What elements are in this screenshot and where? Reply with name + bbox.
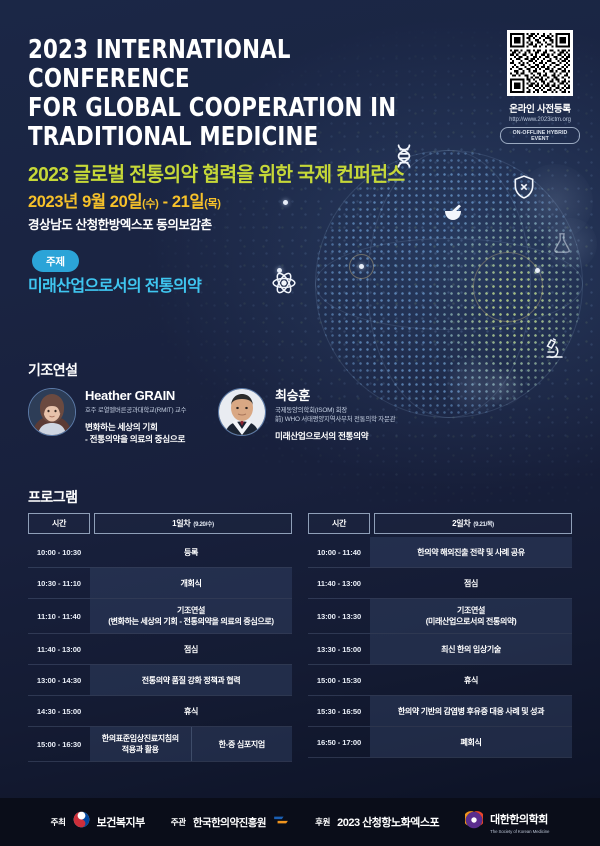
footer-group-host: 주최 보건복지부: [51, 811, 145, 833]
taegeuk-icon: [73, 811, 90, 833]
row-time: 15:30 - 16:50: [308, 696, 370, 726]
table-row: 13:00 - 14:30전통의약 품질 강화 정책과 협력: [28, 665, 292, 696]
keynote-heading: 기조연설: [28, 360, 78, 380]
footer-society-text: 대한한의학회 The Society of Korean Medicine: [490, 810, 549, 834]
speaker-1-name: Heather GRAIN: [85, 388, 186, 403]
program-table-day1: 시간 1일차 (9.20/수) 10:00 - 10:30등록10:30 - 1…: [28, 513, 292, 762]
table-row: 11:40 - 13:00점심: [308, 568, 572, 599]
date-weekday-2: (목): [204, 198, 220, 210]
row-session: 한의약 해외진출 전략 및 사례 공유: [370, 537, 572, 567]
hybrid-event-badge: ON-OFFLINE HYBRID EVENT: [500, 127, 580, 144]
footer-org-sponsor: 2023 산청항노화엑스포: [337, 814, 439, 830]
globe-meridian: [367, 150, 531, 418]
row-session: 점심: [90, 634, 292, 664]
row-time: 13:00 - 14:30: [28, 665, 90, 695]
date-end: 21일: [172, 193, 204, 211]
row-time: 15:00 - 16:30: [28, 727, 90, 761]
date-start: 2023년 9월 20일: [28, 193, 142, 211]
row-session-text: 최신 한의 임상기술: [441, 644, 501, 655]
bokeh-circle: [517, 164, 593, 240]
row-session: 최신 한의 임상기술: [370, 634, 572, 664]
bokeh-circle: [485, 368, 523, 406]
program-table-day2: 시간 2일차 (9.21/목) 10:00 - 11:40한의약 해외진출 전략…: [308, 513, 572, 762]
footer-group-organizer: 주관 한국한의약진흥원: [171, 813, 289, 831]
row-time: 14:30 - 15:00: [28, 696, 90, 726]
row-session-text: 점심: [464, 578, 478, 589]
keynote-speaker-2: 최승훈 국제동양의학회(ISOM) 회장 前) WHO 서태평양지역사무처 전통…: [218, 388, 448, 442]
row-session-text: 개회식: [180, 578, 201, 589]
network-node: [535, 268, 540, 273]
row-time: 13:00 - 13:30: [308, 599, 370, 633]
speaker-2-affiliation-line-1: 국제동양의학회(ISOM) 회장: [275, 406, 395, 415]
column-header-day: 2일차 (9.21/목): [374, 513, 572, 534]
footer-group-society: 대한한의학회 The Society of Korean Medicine: [465, 810, 549, 834]
column-header-day: 1일차 (9.20/수): [94, 513, 292, 534]
row-session-part: 한-중 심포지엄: [191, 727, 293, 761]
globe-outline: [315, 150, 583, 418]
row-time: 11:10 - 11:40: [28, 599, 90, 633]
row-session-text: 한의약 기반의 감염병 후유증 대응 사례 및 성과: [398, 706, 544, 717]
program-heading: 프로그램: [28, 487, 78, 507]
table-row: 10:30 - 11:10개회식: [28, 568, 292, 599]
network-node: [277, 268, 282, 273]
row-session-text: 휴식: [184, 706, 198, 717]
table-row: 10:00 - 10:30등록: [28, 537, 292, 568]
title-block: 2023 INTERNATIONAL CONFERENCE FOR GLOBAL…: [28, 36, 458, 187]
table-header-row: 시간 1일차 (9.20/수): [28, 513, 292, 534]
title-korean: 2023 글로벌 전통의약 협력을 위한 국제 컨퍼런스: [28, 158, 441, 187]
microscope-icon: [541, 336, 565, 365]
globe-parallel: [315, 238, 583, 330]
footer-org-society-sub: The Society of Korean Medicine: [490, 829, 549, 834]
capsule-icon: [511, 174, 537, 205]
row-time: 10:00 - 11:40: [308, 537, 370, 567]
speaker-1-talk: 변화하는 세상의 기회 - 전통의약을 의료의 중심으로: [85, 421, 186, 445]
title-line-3: TRADITIONAL MEDICINE: [28, 123, 428, 152]
table-row: 14:30 - 15:00휴식: [28, 696, 292, 727]
row-session: 기조연설(변화하는 세상의 기회 - 전통의약을 의료의 중심으로): [90, 599, 292, 633]
row-session: 기조연설(미래산업으로서의 전통의약): [370, 599, 572, 633]
table-row: 11:40 - 13:00점심: [28, 634, 292, 665]
row-session: 휴식: [90, 696, 292, 726]
footer-role-host: 주최: [51, 816, 66, 828]
row-session: 등록: [90, 537, 292, 567]
speaker-2-name: 최승훈: [275, 388, 395, 403]
network-node: [283, 200, 288, 205]
row-time: 10:00 - 10:30: [28, 537, 90, 567]
node-ring: [349, 254, 374, 279]
footer-org-host: 보건복지부: [97, 814, 145, 830]
flask-icon: [551, 232, 573, 259]
network-node: [359, 264, 364, 269]
event-venue: 경상남도 산청한방엑스포 동의보감촌: [28, 214, 212, 233]
bokeh-circle: [447, 356, 505, 414]
row-session: 점심: [370, 568, 572, 598]
date-weekday-1: (수): [142, 198, 158, 210]
column-header-time: 시간: [308, 513, 370, 534]
speaker-2-talk: 미래산업으로서의 전통의약: [275, 430, 395, 442]
globe-dots-blue: [315, 150, 583, 418]
table-row: 10:00 - 11:40한의약 해외진출 전략 및 사례 공유: [308, 537, 572, 568]
column-header-time: 시간: [28, 513, 90, 534]
row-session-text: 전통의약 품질 강화 정책과 협력: [142, 675, 241, 686]
footer-role-sponsor: 후원: [315, 816, 330, 828]
skom-icon: [465, 811, 483, 834]
table-row: 15:00 - 15:30휴식: [308, 665, 572, 696]
row-time: 10:30 - 11:10: [28, 568, 90, 598]
globe-dots-green: [315, 150, 583, 418]
speaker-2-affiliation-line-2: 前) WHO 서태평양지역사무처 전통의학 자문관: [275, 415, 395, 424]
row-session-text: 점심: [184, 644, 198, 655]
footer-sponsors: 주최 보건복지부 주관 한국한의약진흥원 후원 2023: [0, 798, 600, 846]
event-date: 2023년 9월 20일(수) - 21일(목): [28, 188, 220, 212]
row-time: 13:30 - 15:00: [308, 634, 370, 664]
atom-icon: [271, 270, 297, 301]
day-date: (9.21/목): [473, 519, 493, 528]
speaker-1-avatar: [28, 388, 76, 436]
row-session-text: 한의약 해외진출 전략 및 사례 공유: [417, 547, 525, 558]
row-session-text: 등록: [184, 547, 198, 558]
table-row: 15:00 - 16:30한의표준임상진료지침의적용과 활용한-중 심포지엄: [28, 727, 292, 762]
row-session: 폐회식: [370, 727, 572, 757]
qr-code-image[interactable]: [507, 30, 573, 96]
row-session-part: 한의표준임상진료지침의적용과 활용: [90, 727, 191, 761]
table-row: 15:30 - 16:50한의약 기반의 감염병 후유증 대응 사례 및 성과: [308, 696, 572, 727]
conference-poster: 2023 INTERNATIONAL CONFERENCE FOR GLOBAL…: [0, 0, 600, 846]
footer-org-organizer: 한국한의약진흥원: [193, 815, 266, 830]
speaker-1-affiliation: 호주 로열멜버른공과대학교(RMIT) 교수: [85, 406, 186, 415]
row-session: 전통의약 품질 강화 정책과 협력: [90, 665, 292, 695]
table-row: 13:30 - 15:00최신 한의 임상기술: [308, 634, 572, 665]
row-session: 한의표준임상진료지침의적용과 활용한-중 심포지엄: [90, 727, 292, 761]
day-date: (9.20/수): [193, 519, 213, 528]
row-session-text: 기조연설(변화하는 세상의 기회 - 전통의약을 의료의 중심으로): [108, 605, 273, 627]
topic-badge: 주제: [32, 250, 79, 272]
row-session: 개회식: [90, 568, 292, 598]
nikom-icon: [273, 813, 289, 831]
title-line-1: 2023 INTERNATIONAL CONFERENCE: [28, 36, 428, 94]
qr-registration-block[interactable]: 온라인 사전등록 http://www.2023ictm.org ON-OFFL…: [500, 30, 580, 145]
day-label: 1일차: [172, 518, 190, 529]
row-session-text: 휴식: [464, 675, 478, 686]
speaker-1-talk-line-1: 변화하는 세상의 기회: [85, 421, 186, 433]
program-tables: 시간 1일차 (9.20/수) 10:00 - 10:30등록10:30 - 1…: [28, 513, 572, 762]
date-separator: -: [158, 193, 171, 211]
speaker-2-avatar: [218, 388, 266, 436]
day-label: 2일차: [452, 518, 470, 529]
row-session-text: 폐회식: [460, 737, 481, 748]
mortar-pestle-icon: [441, 202, 465, 231]
footer-org-society: 대한한의학회: [490, 814, 548, 826]
table-body-day1: 10:00 - 10:30등록10:30 - 11:10개회식11:10 - 1…: [28, 537, 292, 762]
row-session: 휴식: [370, 665, 572, 695]
table-header-row: 시간 2일차 (9.21/목): [308, 513, 572, 534]
table-row: 16:50 - 17:00폐회식: [308, 727, 572, 758]
table-row: 13:00 - 13:30기조연설(미래산업으로서의 전통의약): [308, 599, 572, 634]
footer-group-sponsor: 후원 2023 산청항노화엑스포: [315, 814, 439, 830]
title-line-2: FOR GLOBAL COOPERATION IN: [28, 94, 428, 123]
footer-role-organizer: 주관: [171, 816, 186, 828]
accent-ring: [473, 252, 543, 322]
row-time: 11:40 - 13:00: [308, 568, 370, 598]
bokeh-circle: [545, 218, 597, 270]
topic-text: 미래산업으로서의 전통의약: [28, 272, 201, 296]
row-session: 한의약 기반의 감염병 후유증 대응 사례 및 성과: [370, 696, 572, 726]
table-body-day2: 10:00 - 11:40한의약 해외진출 전략 및 사례 공유11:40 - …: [308, 537, 572, 758]
row-session-text: 기조연설(미래산업으로서의 전통의약): [426, 605, 517, 627]
row-time: 11:40 - 13:00: [28, 634, 90, 664]
row-time: 16:50 - 17:00: [308, 727, 370, 757]
table-row: 11:10 - 11:40기조연설(변화하는 세상의 기회 - 전통의약을 의료…: [28, 599, 292, 634]
speaker-1-talk-line-2: - 전통의약을 의료의 중심으로: [85, 433, 186, 445]
row-time: 15:00 - 15:30: [308, 665, 370, 695]
qr-label: 온라인 사전등록: [500, 101, 580, 115]
speaker-2-affiliation: 국제동양의학회(ISOM) 회장 前) WHO 서태평양지역사무처 전통의학 자…: [275, 406, 395, 424]
